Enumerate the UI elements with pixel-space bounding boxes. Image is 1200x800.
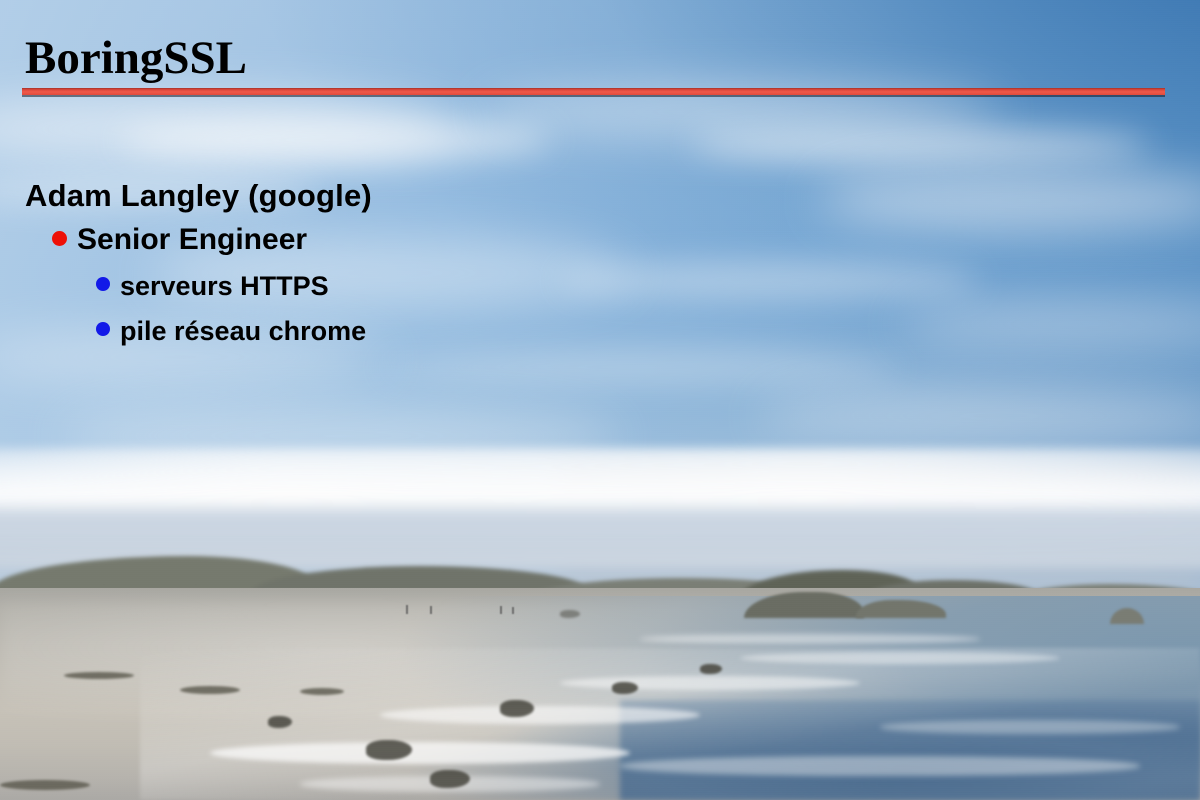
red-bullet-icon [52,231,67,246]
bullet-item-pile-reseau-chrome: pile réseau chrome [96,313,366,347]
blue-bullet-icon [96,322,110,336]
slide-content: BoringSSL Adam Langley (google) Senior E… [0,0,1200,800]
blue-bullet-icon [96,277,110,291]
author-label: Adam Langley (google) [25,178,372,214]
bullet-item-senior-engineer: Senior Engineer [52,222,307,257]
bullet-label-serveurs-https: serveurs HTTPS [120,270,329,302]
author-line: Adam Langley (google) [25,176,372,214]
page-title: BoringSSL [25,33,247,83]
bullet-label-pile-reseau-chrome: pile réseau chrome [120,315,366,347]
bullet-item-serveurs-https: serveurs HTTPS [96,268,329,302]
presentation-slide: BoringSSL Adam Langley (google) Senior E… [0,0,1200,800]
bullet-label-senior-engineer: Senior Engineer [77,223,307,257]
title-underline-rule [22,88,1165,95]
